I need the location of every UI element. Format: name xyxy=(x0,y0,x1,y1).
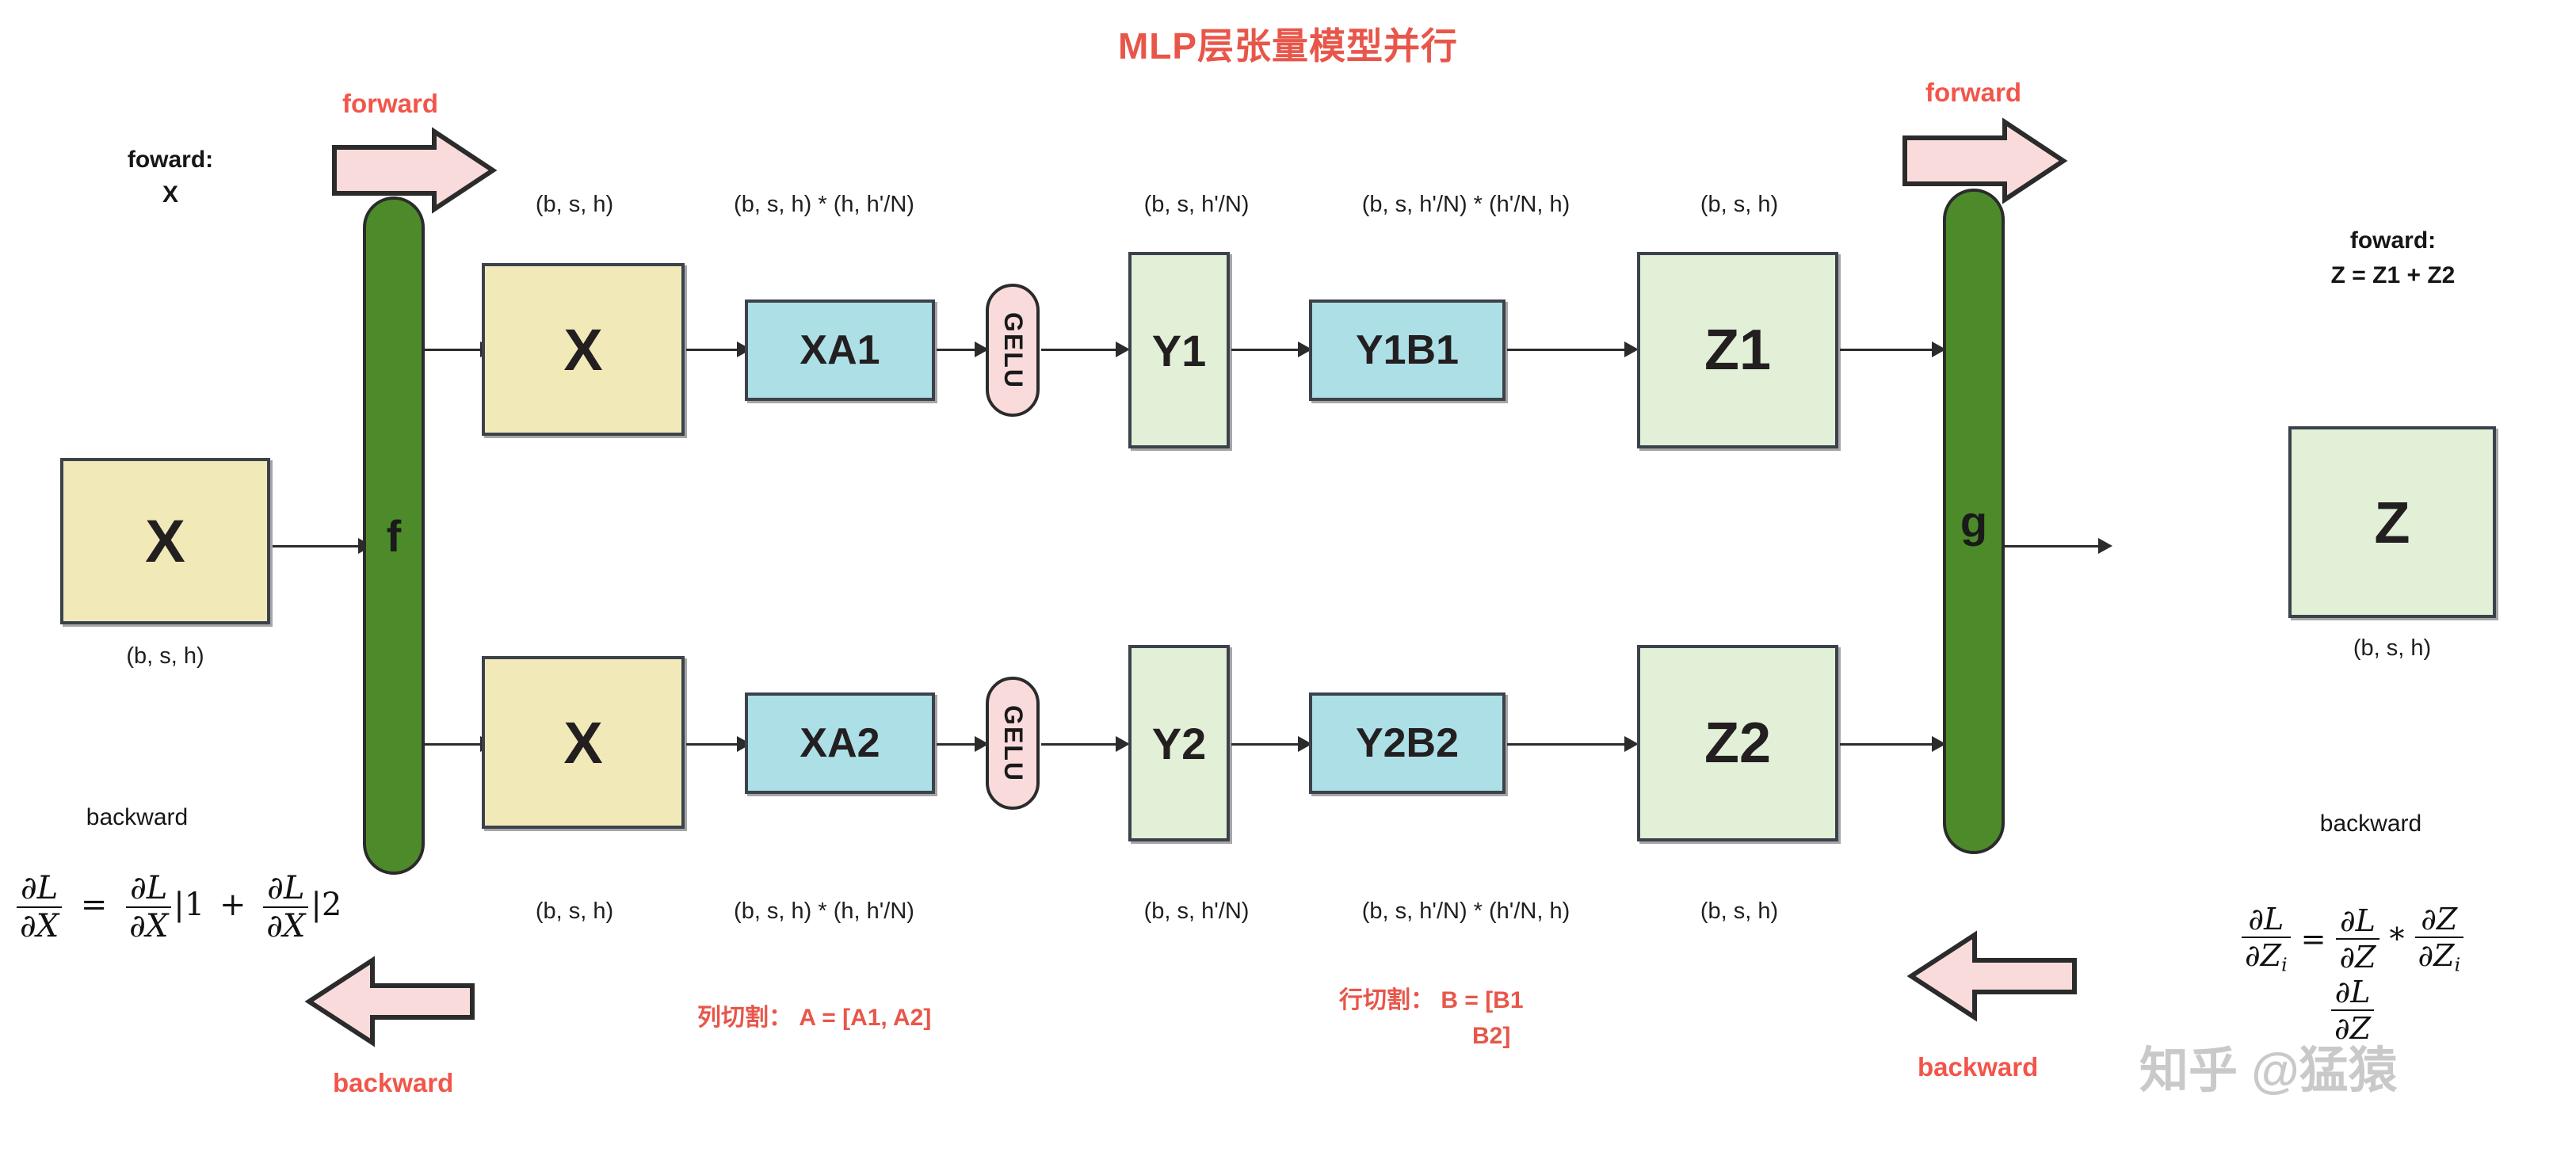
connector-g-to-dropout-head-icon xyxy=(2098,538,2112,554)
f-bar: f xyxy=(363,196,425,875)
forward-label-right: forward xyxy=(1925,78,2021,108)
row2-yb-box: Y2B2 xyxy=(1309,692,1506,794)
connector-g-to-dropout xyxy=(2005,545,2106,547)
row1-yb-box: Y1B1 xyxy=(1309,299,1506,401)
row1-xa-shape-label: (b, s, h) * (h, h'/N) xyxy=(689,192,959,218)
forward-arrow-right-icon xyxy=(1902,117,2068,204)
watermark: 知乎 @猛猿 xyxy=(2139,1030,2398,1101)
row2-z-box: Z2 xyxy=(1637,645,1838,841)
row1-yb-shape-label: (b, s, h'/N) * (h'/N, h) xyxy=(1299,192,1632,218)
right-forward-note-line1: foward: xyxy=(2250,223,2536,258)
row-split-note: 行切割： B = [B1 B2] xyxy=(1339,982,1524,1054)
backward-arrow-left-icon xyxy=(303,954,475,1049)
row1-z-shape-label: (b, s, h) xyxy=(1648,192,1830,218)
page-title: MLP层张量模型并行 xyxy=(0,17,2576,70)
row1-x-shape-label: (b, s, h) xyxy=(483,192,666,218)
connector-x-to-f xyxy=(273,545,364,547)
row2-x-box: X xyxy=(482,656,685,829)
row2-gelu-pill: GELU xyxy=(986,677,1040,810)
right-backward-label: backward xyxy=(2260,807,2482,841)
f-bar-label: f xyxy=(387,510,402,562)
column-split-note: 列切割： A = [A1, A2] xyxy=(697,1000,931,1036)
row2-y-shape-label: (b, s, h'/N) xyxy=(1086,898,1307,925)
right-forward-note-line2: Z = Z1 + Z2 xyxy=(2250,258,2536,293)
row1-x-box: X xyxy=(482,263,685,436)
row1-xa-box: XA1 xyxy=(745,299,935,401)
backward-label-right: backward xyxy=(1918,1052,2038,1082)
row1-connector-y-yb xyxy=(1231,349,1306,351)
row2-connector-gelu-y xyxy=(1041,743,1124,746)
row2-connector-yb-z xyxy=(1507,743,1632,746)
left-forward-note-line1: foward: xyxy=(79,143,261,177)
row1-y-box: Y1 xyxy=(1128,252,1230,448)
right-backward-formula: ∂L∂Zi = ∂L∂Z * ∂Z∂Zi ∂L∂Z xyxy=(2239,902,2466,1046)
left-forward-note-line2: X xyxy=(79,177,261,212)
row2-x-shape-label: (b, s, h) xyxy=(483,898,666,925)
row2-y-box: Y2 xyxy=(1128,645,1230,841)
forward-arrow-left-icon xyxy=(331,127,498,214)
left-backward-formula: ∂L∂X = ∂L∂X|1 + ∂L∂X|2 xyxy=(14,870,342,944)
input-x-box: X xyxy=(60,458,270,624)
row2-xa-shape-label: (b, s, h) * (h, h'/N) xyxy=(689,898,959,925)
row2-z-shape-label: (b, s, h) xyxy=(1648,898,1830,925)
left-backward-label: backward xyxy=(54,800,220,835)
row1-gelu-pill: GELU xyxy=(986,284,1040,417)
forward-label-left: forward xyxy=(342,89,438,119)
row2-gelu-label: GELU xyxy=(998,705,1028,782)
row1-connector-yb-z xyxy=(1507,349,1632,351)
row1-z-box: Z1 xyxy=(1637,252,1838,448)
right-forward-note: foward: Z = Z1 + Z2 xyxy=(2250,223,2536,292)
row2-yb-shape-label: (b, s, h'/N) * (h'/N, h) xyxy=(1299,898,1632,925)
row-split-note-line2: B2] xyxy=(1339,1018,1524,1054)
row1-connector-gelu-y xyxy=(1041,349,1124,351)
row1-connector-z-g xyxy=(1840,349,1940,351)
row-split-note-line1: 行切割： B = [B1 xyxy=(1339,982,1524,1018)
output-z-box: Z xyxy=(2288,426,2496,618)
left-forward-note: foward: X xyxy=(79,143,261,212)
input-x-shape-label: (b, s, h) xyxy=(60,643,270,670)
row2-xa-box: XA2 xyxy=(745,692,935,794)
backward-label-left: backward xyxy=(333,1068,453,1098)
output-z-shape-label: (b, s, h) xyxy=(2288,635,2496,662)
row2-connector-z-g xyxy=(1840,743,1940,746)
g-bar: g xyxy=(1943,189,2005,854)
row2-connector-y-yb xyxy=(1231,743,1306,746)
row1-gelu-label: GELU xyxy=(998,312,1028,389)
backward-arrow-right-icon xyxy=(1905,929,2078,1024)
g-bar-label: g xyxy=(1960,496,1987,547)
row1-y-shape-label: (b, s, h'/N) xyxy=(1086,192,1307,218)
